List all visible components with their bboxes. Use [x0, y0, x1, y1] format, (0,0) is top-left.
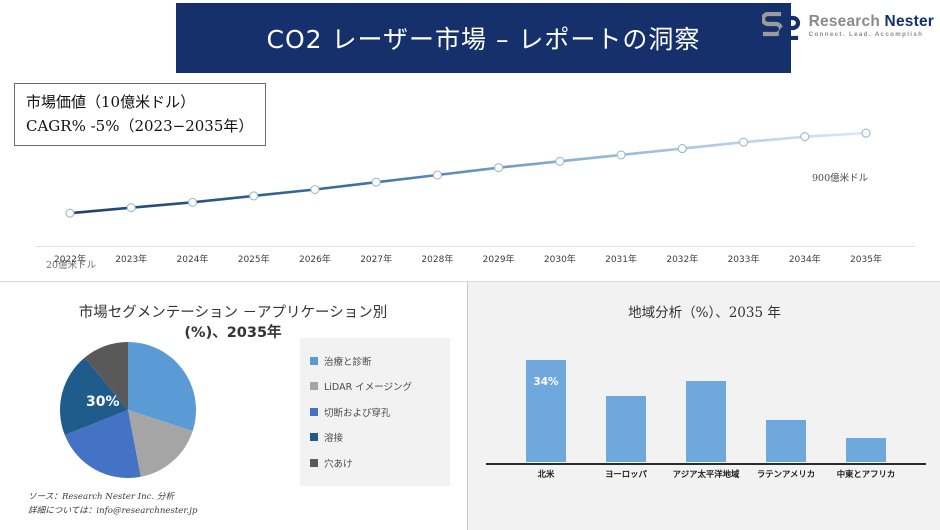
bar-column: 34% [526, 342, 566, 462]
pie-svg [58, 340, 198, 480]
bar-chart-x-axis-labels: 北米ヨーロッパアジア太平洋地域ラテンアメリカ中東とアフリカ [486, 468, 926, 488]
bar-column [686, 342, 726, 462]
year-label: 2033年 [728, 252, 760, 265]
logo-name: Research Nester [809, 14, 934, 30]
source-line-1: ソース：Research Nester Inc. 分析 [28, 490, 197, 504]
legend-item[interactable]: LiDAR イメージング [310, 374, 442, 400]
year-label: 2031年 [605, 252, 637, 265]
market-growth-line-chart: 20億米ドル 900億米ドル [0, 76, 940, 280]
page-title: CO2 レーザー市場 – レポートの洞察 [267, 20, 701, 56]
year-label: 2024年 [177, 252, 209, 265]
line-marker [862, 129, 870, 137]
legend-item[interactable]: 切断および穿孔 [310, 399, 442, 425]
line-marker [66, 209, 74, 217]
region-label: ヨーロッパ [605, 468, 647, 480]
logo-name-nester: Nester [885, 13, 934, 30]
year-label: 2028年 [421, 252, 453, 265]
application-pie-chart [58, 340, 198, 480]
line-marker [250, 192, 258, 200]
legend-label: 切断および穿孔 [324, 405, 391, 419]
regional-bar-chart: 34% [506, 342, 906, 462]
line-chart-x-axis-labels: 2022年2023年2024年2025年2026年2027年2028年2029年… [35, 252, 915, 272]
segmentation-title-line2: (%)、2035年 [184, 325, 281, 341]
legend-swatch-icon [310, 408, 318, 416]
year-label: 2027年 [360, 252, 392, 265]
bottom-panels: 市場セグメンテーション －アプリケーション別 (%)、2035年 30% 治療と… [0, 281, 940, 530]
segmentation-title-line1: 市場セグメンテーション －アプリケーション別 [79, 305, 388, 321]
pie-data-label: 30% [86, 394, 120, 410]
legend-item[interactable]: 溶接 [310, 425, 442, 451]
year-label: 2035年 [850, 252, 882, 265]
legend-label: 穴あけ [324, 456, 353, 470]
line-marker [678, 145, 686, 153]
line-chart-svg [0, 76, 940, 280]
legend-label: 治療と診断 [324, 354, 372, 368]
region-label: ラテンアメリカ [757, 468, 815, 480]
title-banner: CO2 レーザー市場 – レポートの洞察 [176, 3, 791, 73]
line-marker [740, 138, 748, 146]
region-label: 北米 [538, 468, 555, 480]
line-marker [801, 133, 809, 141]
year-label: 2032年 [666, 252, 698, 265]
year-label: 2026年 [299, 252, 331, 265]
line-marker [495, 164, 503, 172]
bar-column [766, 342, 806, 462]
legend-swatch-icon [310, 433, 318, 441]
end-value-label: 900億米ドル [812, 170, 868, 184]
logo-text: Research Nester Connect. Lead. Accomplis… [809, 14, 934, 39]
logo-tagline: Connect. Lead. Accomplish [809, 32, 934, 38]
pie-legend: 治療と診断LiDAR イメージング切断および穿孔溶接穴あけ [300, 338, 450, 486]
year-label: 2022年 [54, 252, 86, 265]
bar[interactable] [686, 381, 726, 462]
bar-data-label: 34% [533, 376, 558, 388]
legend-swatch-icon [310, 382, 318, 390]
header: CO2 レーザー市場 – レポートの洞察 Research Nester Con… [0, 0, 940, 76]
source-note: ソース：Research Nester Inc. 分析 詳細については：info… [28, 490, 197, 518]
legend-label: LiDAR イメージング [324, 379, 412, 393]
line-marker [556, 157, 564, 165]
legend-swatch-icon [310, 357, 318, 365]
bar[interactable] [766, 420, 806, 462]
year-label: 2025年 [238, 252, 270, 265]
regional-title: 地域分析（%）、2035 年 [488, 304, 921, 322]
line-marker [189, 198, 197, 206]
logo-name-research: Research [809, 13, 880, 30]
bar-column [846, 342, 886, 462]
year-label: 2023年 [115, 252, 147, 265]
line-marker [433, 171, 441, 179]
line-marker [311, 186, 319, 194]
segmentation-panel: 市場セグメンテーション －アプリケーション別 (%)、2035年 30% 治療と… [0, 282, 466, 530]
line-marker [372, 178, 380, 186]
year-label: 2030年 [544, 252, 576, 265]
bar-chart-axis [486, 463, 926, 465]
legend-item[interactable]: 穴あけ [310, 450, 442, 476]
legend-swatch-icon [310, 459, 318, 467]
infographic-page: CO2 レーザー市場 – レポートの洞察 Research Nester Con… [0, 0, 940, 529]
source-line-2: 詳細については：info@researchnester.jp [28, 504, 197, 518]
region-label: 中東とアフリカ [837, 468, 896, 480]
brand-logo: Research Nester Connect. Lead. Accomplis… [762, 12, 934, 40]
region-label: アジア太平洋地域 [673, 468, 740, 480]
interlocking-brackets-icon [762, 12, 802, 40]
bar[interactable] [846, 438, 886, 462]
bar[interactable] [606, 396, 646, 462]
line-marker [127, 204, 135, 212]
year-label: 2029年 [483, 252, 515, 265]
line-chart-axis [35, 246, 915, 247]
regional-panel: 地域分析（%）、2035 年 34% 北米ヨーロッパアジア太平洋地域ラテンアメリ… [467, 282, 940, 530]
bar-column [606, 342, 646, 462]
legend-label: 溶接 [324, 430, 343, 444]
legend-item[interactable]: 治療と診断 [310, 348, 442, 374]
year-label: 2034年 [789, 252, 821, 265]
line-marker [617, 151, 625, 159]
